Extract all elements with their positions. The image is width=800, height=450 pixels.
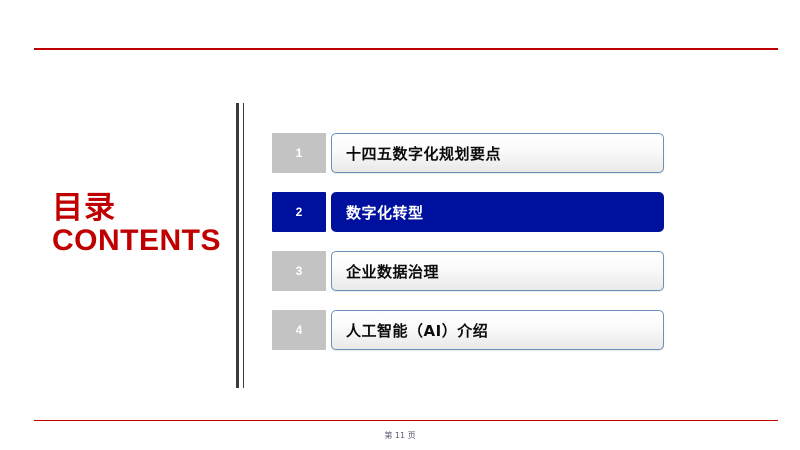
toc-label-box-4[interactable]: 人工智能（AI）介绍: [331, 310, 664, 350]
toc-number-badge-3: 3: [272, 251, 326, 291]
toc-item-1[interactable]: 1 十四五数字化规划要点: [272, 133, 664, 173]
bottom-divider-rule: [34, 420, 778, 421]
toc-label-text-3: 企业数据治理: [346, 261, 439, 282]
slide-canvas: 目录 CONTENTS 1 十四五数字化规划要点 2 数字化转型 3: [0, 0, 800, 450]
page-title-chinese: 目录: [52, 193, 227, 225]
page-number-label: 第 11 页: [0, 430, 800, 441]
table-of-contents-list: 1 十四五数字化规划要点 2 数字化转型 3 企业数据治理 4: [272, 133, 664, 350]
toc-label-text-2: 数字化转型: [346, 202, 424, 223]
toc-number-text-4: 4: [296, 323, 303, 337]
toc-number-badge-4: 4: [272, 310, 326, 350]
page-title-english: CONTENTS: [52, 226, 227, 257]
toc-number-text-1: 1: [296, 146, 303, 160]
toc-label-box-1[interactable]: 十四五数字化规划要点: [331, 133, 664, 173]
toc-number-text-3: 3: [296, 264, 303, 278]
section-title-block: 目录 CONTENTS: [52, 193, 227, 256]
toc-label-text-1: 十四五数字化规划要点: [346, 143, 501, 164]
toc-item-2[interactable]: 2 数字化转型: [272, 192, 664, 232]
vertical-accent-bar-thin: [243, 103, 244, 388]
toc-label-text-4: 人工智能（AI）介绍: [346, 320, 488, 341]
toc-number-badge-1: 1: [272, 133, 326, 173]
vertical-accent-bar-thick: [236, 103, 239, 388]
toc-number-badge-2: 2: [272, 192, 326, 232]
toc-item-3[interactable]: 3 企业数据治理: [272, 251, 664, 291]
toc-number-text-2: 2: [296, 205, 303, 219]
toc-label-box-2[interactable]: 数字化转型: [331, 192, 664, 232]
top-divider-rule: [34, 48, 778, 50]
toc-label-box-3[interactable]: 企业数据治理: [331, 251, 664, 291]
toc-item-4[interactable]: 4 人工智能（AI）介绍: [272, 310, 664, 350]
